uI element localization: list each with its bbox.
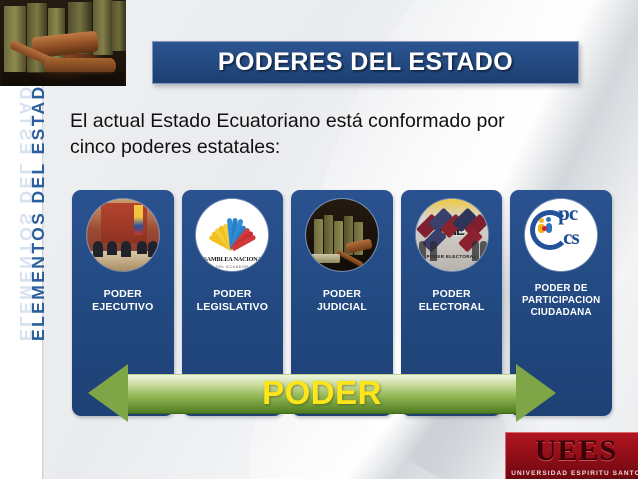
body-paragraph: El actual Estado Ecuatoriano está confor… [70, 108, 570, 160]
uees-logo-subtitle: UNIVERSIDAD ESPIRITU SANTO [506, 470, 638, 477]
asamblea-logo-subtext: DEL ECUADOR [196, 265, 268, 269]
card-label-line2: PARTICIPACION [522, 295, 600, 307]
card-label-line1: PODER [197, 288, 268, 301]
poder-arrow: PODER [88, 364, 556, 422]
card-label-line2: EJECUTIVO [92, 301, 153, 314]
card-label-judicial: PODER JUDICIAL [317, 288, 367, 313]
arrow-label: PODER [88, 364, 556, 422]
card-label-line1: PODER [317, 288, 367, 301]
card-label-line1: PODER [419, 288, 485, 301]
asamblea-nacional-logo-icon: ASAMBLEA NACIONAL DEL ECUADOR [196, 199, 268, 271]
gavel-law-books-photo [0, 0, 126, 86]
card-label-line3: CIUDADANA [522, 307, 600, 319]
asamblea-logo-text: ASAMBLEA NACIONAL [196, 256, 268, 263]
card-label-line2: ELECTORAL [419, 301, 485, 314]
law-books-gavel-photo-icon [306, 199, 378, 271]
card-label-ejecutivo: PODER EJECUTIVO [92, 288, 153, 313]
card-label-legislativo: PODER LEGISLATIVO [197, 288, 268, 313]
body-line-2: cinco poderes estatales: [70, 134, 570, 160]
cpccs-logo-text: pc [558, 205, 577, 222]
card-label-line2: LEGISLATIVO [197, 301, 268, 314]
sidebar-title-reflection: ELEMENTOS DEL ESTADO [15, 68, 36, 341]
body-line-1: El actual Estado Ecuatoriano está confor… [70, 108, 570, 134]
card-label-electoral: PODER ELECTORAL [419, 288, 485, 313]
card-label-participacion: PODER DE PARTICIPACION CIUDADANA [522, 283, 600, 319]
cpccs-logo-text2: cs [563, 229, 579, 246]
cne-person-silhouette [480, 241, 487, 261]
law-book [112, 1, 126, 51]
card-label-line1: PODER [92, 288, 153, 301]
cne-person-silhouette [419, 241, 426, 261]
sidebar-vertical-title: ELEMENTOS DEL ESTADO ELEMENTOS DEL ESTAD… [17, 81, 59, 341]
card-label-line1: PODER DE [522, 283, 600, 295]
page-title: PODERES DEL ESTADO [218, 48, 513, 77]
law-book [4, 6, 26, 72]
cne-person-silhouette [472, 241, 479, 261]
slide-title-banner: PODERES DEL ESTADO [152, 41, 579, 84]
uees-logo-name: UEES [506, 434, 638, 468]
slide-canvas: ELEMENTOS DEL ESTADO ELEMENTOS DEL ESTAD… [0, 0, 638, 479]
cpccs-logo-icon: pc cs [525, 199, 597, 271]
cne-logo-icon: CNE PODER ELECTORAL [416, 199, 488, 271]
photo-bottom-shadow [2, 72, 124, 86]
uees-logo: UEES UNIVERSIDAD ESPIRITU SANTO [505, 432, 638, 479]
card-label-line2: JUDICIAL [317, 301, 367, 314]
cne-person-silhouette [430, 241, 437, 261]
executive-assembly-photo-icon [87, 199, 159, 271]
